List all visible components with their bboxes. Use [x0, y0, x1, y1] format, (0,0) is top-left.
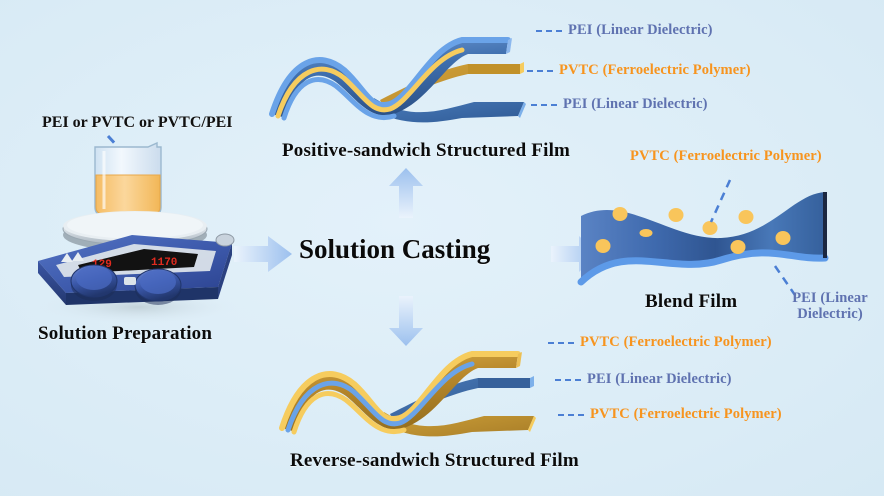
solution-note: PEI or PVTC or PVTC/PEI [42, 114, 233, 132]
top-film-label-row-1: PEI (Linear Dielectric) [536, 22, 713, 39]
filler-particle [596, 239, 611, 253]
bottom-film-label-row-2: PEI (Linear Dielectric) [555, 371, 732, 388]
filler-particle [613, 207, 628, 221]
bottom-film-label-row-3: PVTC (Ferroelectric Polymer) [558, 406, 782, 423]
leader-dash [558, 414, 584, 416]
filler-particle [669, 208, 684, 222]
leader-dash [531, 104, 557, 106]
blend-pvtc-label: PVTC (Ferroelectric Polymer) [630, 148, 822, 165]
arrow-center-to-top [386, 166, 426, 220]
label-pei-middle: PEI (Linear Dielectric) [587, 371, 732, 388]
label-pvtc-bottom: PVTC (Ferroelectric Polymer) [590, 406, 782, 423]
label-pei-bottom: PEI (Linear Dielectric) [563, 96, 708, 113]
leader-dash [536, 30, 562, 32]
filler-particle [731, 240, 746, 254]
led-right: 1170 [151, 257, 177, 269]
filler-particle [703, 221, 718, 235]
positive-sandwich-caption: Positive-sandwich Structured Film [282, 140, 570, 162]
label-pei-top: PEI (Linear Dielectric) [568, 22, 713, 39]
solution-preparation-apparatus: 129 1170 [20, 135, 250, 325]
figure-canvas: PEI or PVTC or PVTC/PEI [0, 0, 884, 496]
leader-dash [555, 379, 581, 381]
reverse-sandwich-film-graphic [272, 328, 552, 448]
label-pvtc-middle: PVTC (Ferroelectric Polymer) [559, 62, 751, 79]
blend-film-graphic [575, 186, 865, 301]
rear-knob [216, 234, 234, 246]
reverse-sandwich-caption: Reverse-sandwich Structured Film [290, 450, 579, 472]
process-label: Solution Casting [299, 234, 490, 265]
label-pvtc-top: PVTC (Ferroelectric Polymer) [580, 334, 772, 351]
center-button [124, 277, 136, 285]
blend-pvtc-leader [711, 180, 730, 222]
blend-pei-label: PEI (Linear Dielectric) [782, 290, 878, 322]
filler-particle [776, 231, 791, 245]
bottom-film-label-row-1: PVTC (Ferroelectric Polymer) [548, 334, 772, 351]
filler-particle [640, 229, 653, 237]
leader-dash [527, 70, 553, 72]
blend-film-caption: Blend Film [645, 291, 737, 313]
solution-preparation-caption: Solution Preparation [38, 323, 212, 345]
top-film-label-row-3: PEI (Linear Dielectric) [531, 96, 708, 113]
beaker [95, 143, 161, 215]
filler-particle [739, 210, 754, 224]
top-film-label-row-2: PVTC (Ferroelectric Polymer) [527, 62, 751, 79]
leader-dash [548, 342, 574, 344]
positive-sandwich-film-graphic [262, 14, 542, 134]
